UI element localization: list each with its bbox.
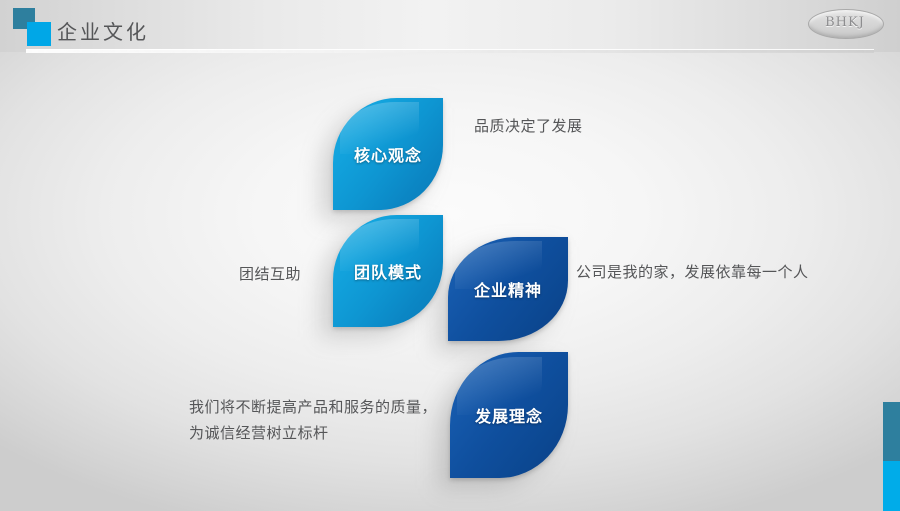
header-accent-square-light bbox=[27, 22, 51, 46]
logo-text: BHKJ bbox=[808, 9, 882, 37]
page-title: 企业文化 bbox=[57, 16, 149, 45]
diagram-node-label: 发展理念 bbox=[475, 403, 543, 427]
diagram-node-team[interactable]: 团队模式 bbox=[333, 215, 443, 327]
diagram-node-dev[interactable]: 发展理念 bbox=[450, 352, 568, 478]
slide-canvas: 企业文化 BHKJ 核心观念 团队模式 企业精神 发展理念 品质决定了发展 团结… bbox=[0, 0, 900, 511]
diagram-node-label: 团队模式 bbox=[354, 259, 422, 283]
diagram-node-label: 核心观念 bbox=[354, 142, 422, 166]
diagram-node-spirit[interactable]: 企业精神 bbox=[448, 237, 568, 341]
edge-accent-bar-bottom bbox=[883, 461, 900, 511]
edge-accent-bar-top bbox=[883, 402, 900, 461]
caption-quality: 品质决定了发展 bbox=[474, 113, 583, 139]
caption-home: 公司是我的家，发展依靠每一个人 bbox=[576, 259, 809, 285]
caption-unity: 团结互助 bbox=[239, 261, 301, 287]
diagram-node-label: 企业精神 bbox=[474, 277, 542, 301]
caption-improve: 我们将不断提高产品和服务的质量，为诚信经营树立标杆 bbox=[189, 394, 439, 446]
header-divider bbox=[26, 49, 874, 53]
diagram-node-core[interactable]: 核心观念 bbox=[333, 98, 443, 210]
brand-logo: BHKJ bbox=[808, 9, 884, 39]
